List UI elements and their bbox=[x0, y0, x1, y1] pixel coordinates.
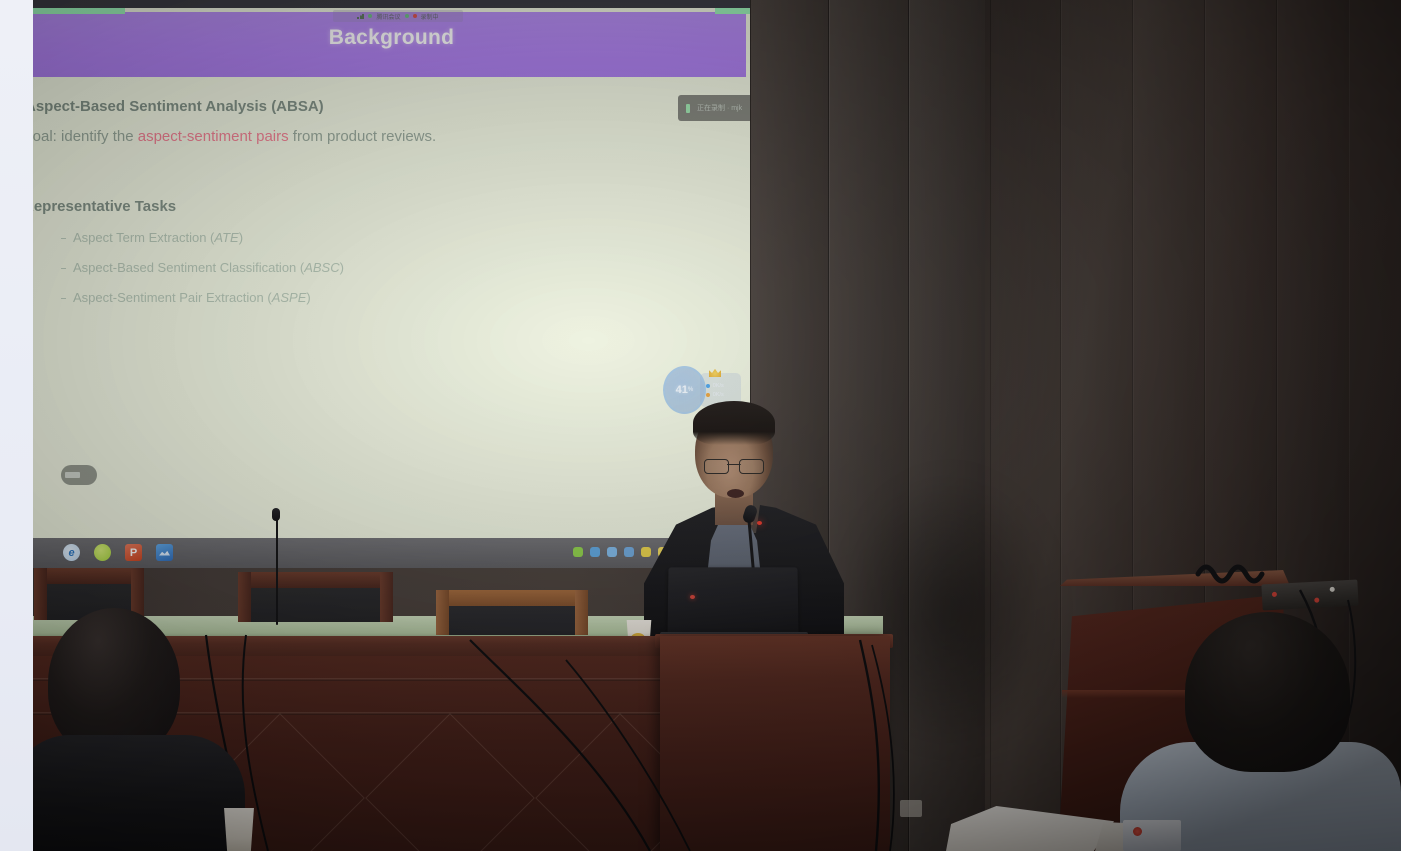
tray-icon-4[interactable] bbox=[624, 547, 634, 557]
chair-2-side-right bbox=[380, 572, 393, 622]
image-left-border bbox=[0, 0, 33, 851]
photo-viewer-icon[interactable] bbox=[156, 544, 173, 561]
chair-3-side-left bbox=[436, 590, 449, 635]
presenter-laptop bbox=[667, 567, 798, 635]
powerpoint-icon[interactable]: P bbox=[125, 544, 142, 561]
collapsed-toolbar-handle-icon[interactable] bbox=[61, 465, 97, 485]
goal-suffix: from product reviews. bbox=[289, 128, 437, 145]
upload-icon bbox=[706, 393, 710, 397]
av-led-red-icon bbox=[1272, 592, 1277, 597]
download-icon bbox=[706, 384, 710, 388]
chair-2-side-left bbox=[238, 572, 251, 622]
recording-toast-label: 正在录制 · mjk bbox=[697, 103, 742, 113]
status-dot-green-icon bbox=[368, 14, 372, 18]
os-status-bar: 腾讯会议 录制中 bbox=[333, 10, 463, 22]
tray-icon-1[interactable] bbox=[573, 547, 583, 557]
recording-status-label: 录制中 bbox=[421, 12, 439, 21]
status-dot-green-2-icon bbox=[405, 14, 409, 18]
bullet-dash-1 bbox=[61, 238, 66, 239]
chair-2 bbox=[238, 572, 393, 622]
wall-outlet bbox=[900, 800, 922, 817]
presenter-hair bbox=[693, 401, 775, 445]
taskbar-app-icons: e P bbox=[63, 544, 173, 561]
internet-explorer-icon[interactable]: e bbox=[63, 544, 80, 561]
table-mic-stem bbox=[276, 513, 278, 625]
projection-screen: Background 腾讯会议 录制中 Aspect-Based Sentime… bbox=[33, 0, 750, 568]
absa-heading: Aspect-Based Sentiment Analysis (ABSA) bbox=[33, 98, 324, 115]
task-bullet-3: Aspect-Sentiment Pair Extraction (ASPE) bbox=[73, 290, 311, 305]
recording-toast[interactable]: 正在录制 · mjk ❯ bbox=[678, 95, 750, 121]
task-bullet-3-close: ) bbox=[306, 290, 310, 305]
table-mic-head bbox=[272, 508, 280, 521]
bullet-dash-2 bbox=[61, 268, 66, 269]
audience-right-head bbox=[1185, 612, 1350, 772]
paper-cup-front bbox=[222, 808, 256, 851]
task-bullet-3-text: Aspect-Sentiment Pair Extraction ( bbox=[73, 290, 272, 305]
audience-laptop bbox=[1123, 820, 1181, 851]
recording-indicator-icon bbox=[686, 104, 690, 113]
absa-goal-line: Goal: identify the aspect-sentiment pair… bbox=[33, 128, 436, 145]
battery-percent-value: 41 bbox=[676, 384, 688, 396]
glasses-lens-right bbox=[739, 459, 764, 474]
av-led-red-2-icon bbox=[1314, 598, 1319, 603]
bullet-dash-3 bbox=[61, 298, 66, 299]
slide-accent-left bbox=[33, 8, 125, 14]
presenter-glasses bbox=[704, 459, 764, 472]
chair-3-rim bbox=[436, 590, 588, 606]
task-bullet-3-abbr: ASPE bbox=[272, 290, 307, 305]
tray-icon-5[interactable] bbox=[641, 547, 651, 557]
crown-icon bbox=[709, 368, 721, 377]
meeting-app-label: 腾讯会议 bbox=[376, 12, 400, 21]
goal-highlight: aspect-sentiment pairs bbox=[138, 128, 289, 145]
slide-accent-right bbox=[715, 8, 750, 14]
chair-1-side-left bbox=[34, 568, 47, 620]
goal-prefix: Goal: identify the bbox=[33, 128, 138, 145]
task-bullet-2: Aspect-Based Sentiment Classification (A… bbox=[73, 260, 344, 275]
task-bullet-1-text: Aspect Term Extraction ( bbox=[73, 230, 214, 245]
tray-icon-3[interactable] bbox=[607, 547, 617, 557]
chair-1-rim bbox=[34, 568, 144, 584]
conference-room-photo: Background 腾讯会议 录制中 Aspect-Based Sentime… bbox=[0, 0, 1401, 851]
task-bullet-2-abbr: ABSC bbox=[304, 260, 339, 275]
chair-2-rim bbox=[238, 572, 393, 588]
av-control-rack bbox=[1261, 580, 1358, 611]
task-bullet-2-text: Aspect-Based Sentiment Classification ( bbox=[73, 260, 304, 275]
presenter-mic-led-icon bbox=[757, 521, 762, 525]
status-dot-red-icon bbox=[413, 14, 417, 18]
upload-speed-row: 0K/s bbox=[706, 392, 741, 398]
task-bullet-1-abbr: ATE bbox=[214, 230, 238, 245]
slide-title: Background bbox=[33, 26, 750, 50]
chair-3 bbox=[436, 590, 588, 635]
laptop-power-led-icon bbox=[690, 595, 695, 599]
task-bullet-1: Aspect Term Extraction (ATE) bbox=[73, 230, 243, 245]
presenter-mouth bbox=[727, 489, 744, 498]
green-app-icon[interactable] bbox=[94, 544, 111, 561]
presenter-podium bbox=[660, 636, 890, 851]
download-speed-value: 0K/s bbox=[713, 383, 724, 389]
task-bullet-2-close: ) bbox=[340, 260, 344, 275]
battery-percent-unit: % bbox=[688, 387, 693, 393]
audience-left-body bbox=[10, 735, 245, 851]
chair-3-side-right bbox=[575, 590, 588, 635]
task-bullet-1-close: ) bbox=[239, 230, 243, 245]
tray-icon-2[interactable] bbox=[590, 547, 600, 557]
representative-tasks-heading: Representative Tasks bbox=[33, 198, 176, 215]
glasses-lens-left bbox=[704, 459, 729, 474]
av-led-white-icon bbox=[1330, 587, 1335, 592]
signal-bars-icon bbox=[357, 14, 364, 19]
upload-speed-value: 0K/s bbox=[713, 392, 724, 398]
download-speed-row: 0K/s bbox=[706, 383, 741, 389]
battery-percent-ring: 41% bbox=[663, 366, 706, 414]
windows-taskbar[interactable]: e P bbox=[33, 538, 750, 568]
